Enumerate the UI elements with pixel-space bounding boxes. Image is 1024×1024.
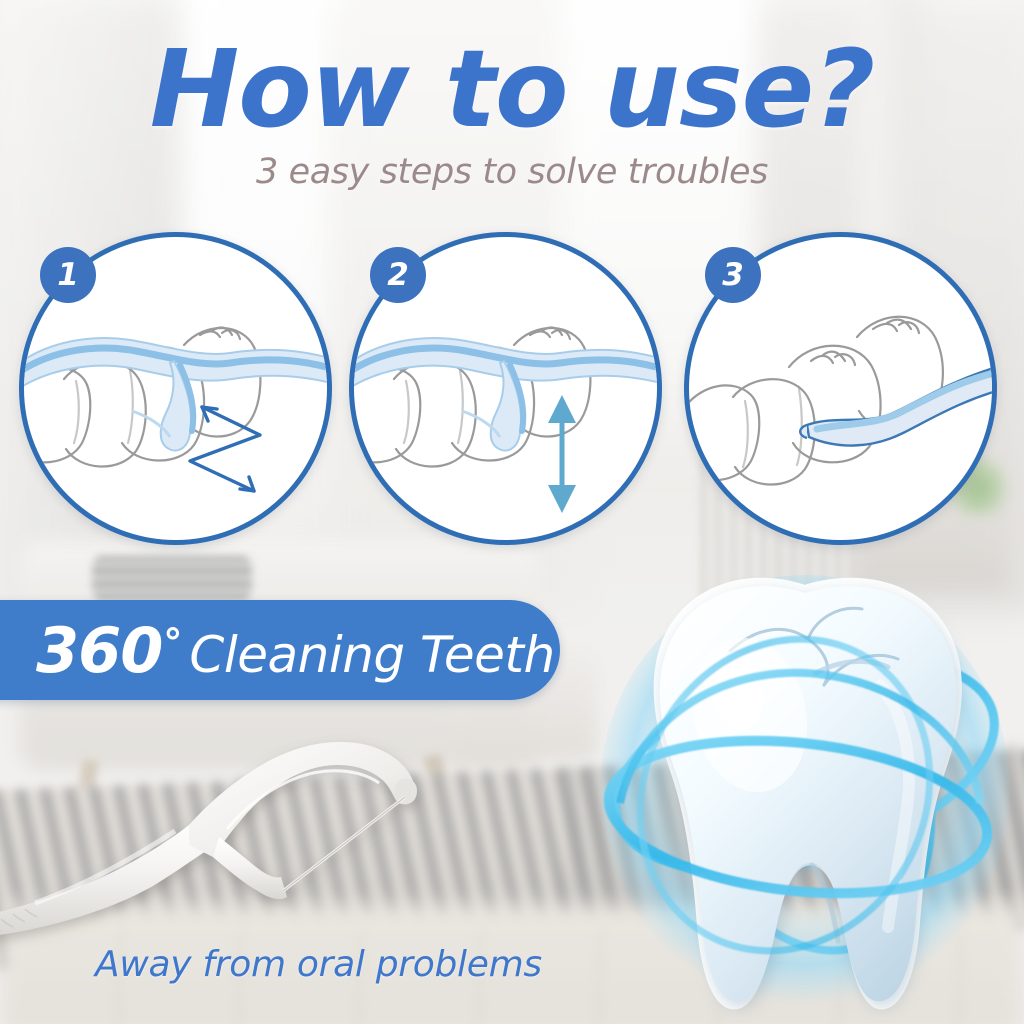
step-badge-3: 3 (705, 247, 761, 303)
header: How to use? 3 easy steps to solve troubl… (0, 34, 1024, 192)
floss-pick-photo-icon (0, 705, 445, 955)
step-badge-1: 1 (40, 247, 96, 303)
page-subtitle: 3 easy steps to solve troubles (0, 152, 1024, 192)
footer-tagline: Away from oral problems (95, 944, 542, 985)
step-circle-2: 2 (349, 232, 662, 545)
banner-inner: 360 ° Cleaning Teeth (0, 614, 555, 687)
step-badge-2: 2 (370, 247, 426, 303)
page-title: How to use? (0, 34, 1024, 146)
tooth-illustration (580, 565, 1024, 1024)
banner-text: Cleaning Teeth (189, 626, 554, 684)
vertical-double-arrow (548, 395, 576, 513)
product-floss-pick (0, 705, 445, 955)
banner-number: 360 (36, 614, 162, 687)
step-circle-3: 3 (684, 232, 997, 545)
molar-tooth-with-orbit-rings-icon (580, 565, 1024, 1024)
zigzag-back-and-forth-arrow (190, 407, 260, 491)
steps-row: 1 (0, 232, 1024, 552)
step-circle-1: 1 (19, 232, 332, 545)
degree-symbol-icon: ° (163, 621, 182, 665)
banner-360-cleaning: 360 ° Cleaning Teeth (0, 600, 560, 700)
